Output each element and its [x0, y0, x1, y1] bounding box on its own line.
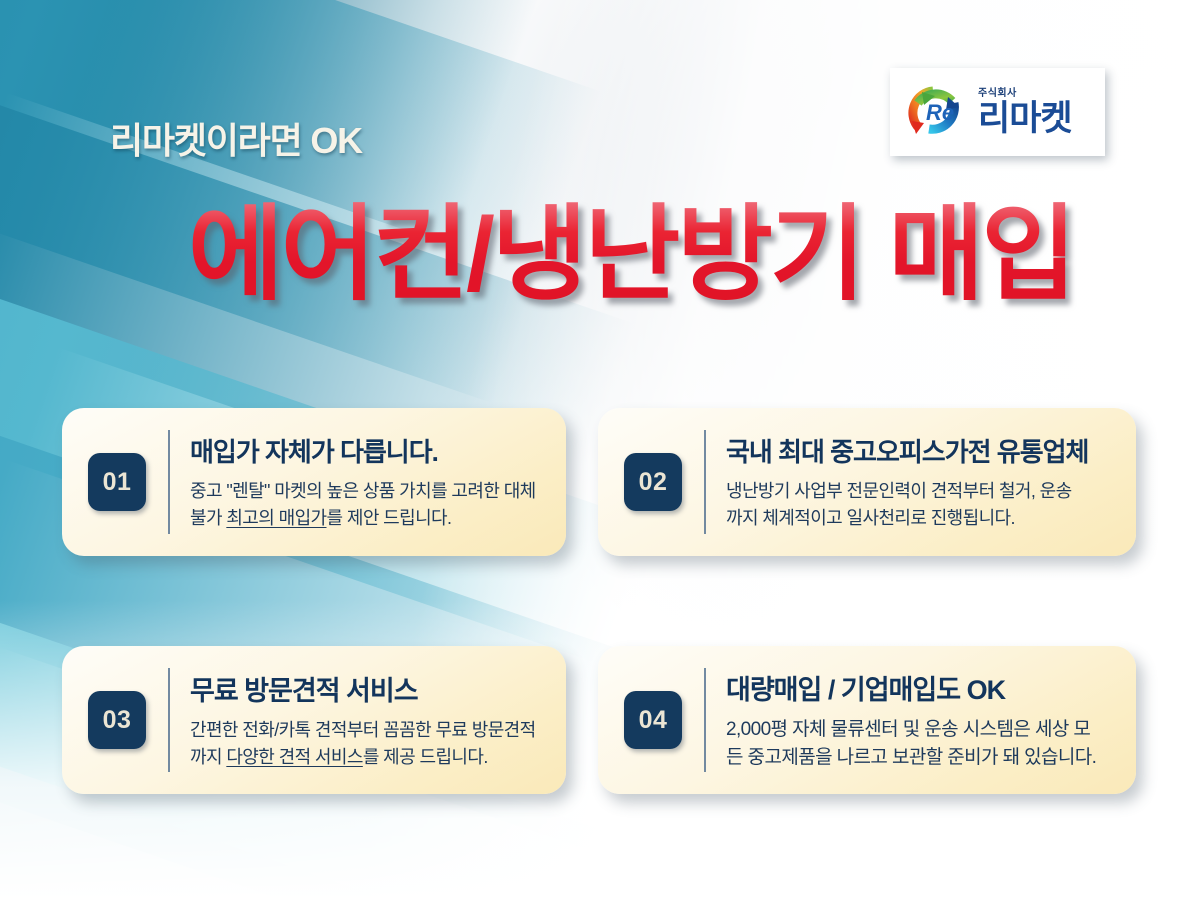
feature-desc-line2-post: 를 제공 드립니다.: [363, 747, 488, 767]
feature-desc-highlight: 다양한 견적 서비스: [226, 747, 362, 767]
feature-body: 매입가 자체가 다릅니다. 중고 "렌탈" 마켓의 높은 상품 가치를 고려한 …: [190, 432, 542, 531]
feature-description: 냉난방기 사업부 전문인력이 견적부터 철거, 운송 까지 체계적이고 일사천리…: [726, 478, 1112, 531]
feature-card-02: 02 국내 최대 중고오피스가전 유통업체 냉난방기 사업부 전문인력이 견적부…: [598, 408, 1136, 556]
feature-desc-line2-pre: 불가: [190, 508, 226, 528]
feature-desc-line2-pre: 까지 체계적이고 일사천리로 진행됩니다.: [726, 508, 1015, 528]
feature-desc-line1: 중고 "렌탈" 마켓의 높은 상품 가치를 고려한 대체: [190, 481, 536, 501]
divider: [704, 668, 706, 772]
hero-headline: 에어컨/냉난방기 매입: [188, 196, 1074, 316]
feature-title: 국내 최대 중고오피스가전 유통업체: [726, 432, 1112, 469]
feature-desc-highlight: 최고의 매입가: [226, 508, 326, 528]
feature-title: 대량매입 / 기업매입도 OK: [726, 668, 1112, 707]
svg-text:Re: Re: [926, 100, 954, 125]
feature-number-badge: 04: [624, 691, 682, 749]
feature-desc-line1: 간편한 전화/카톡 견적부터 꼼꼼한 무료 방문견적: [190, 720, 536, 740]
feature-description: 중고 "렌탈" 마켓의 높은 상품 가치를 고려한 대체 불가 최고의 매입가를…: [190, 478, 542, 531]
hero-eyebrow: 리마켓이라면 OK: [110, 112, 362, 164]
feature-desc-line1: 2,000평 자체 물류센터 및 운송 시스템은 세상 모: [726, 719, 1090, 740]
feature-card-01: 01 매입가 자체가 다릅니다. 중고 "렌탈" 마켓의 높은 상품 가치를 고…: [62, 408, 566, 556]
feature-card-03: 03 무료 방문견적 서비스 간편한 전화/카톡 견적부터 꼼꼼한 무료 방문견…: [62, 646, 566, 794]
feature-number-badge: 02: [624, 453, 682, 511]
recycle-arrows-icon: Re: [902, 81, 970, 143]
feature-number-badge: 03: [88, 691, 146, 749]
promo-banner: Re 주식회사 리마켓 리마켓이라면 OK 에어컨/냉난방기 매입 01 매입가…: [0, 0, 1180, 900]
feature-description: 2,000평 자체 물류센터 및 운송 시스템은 세상 모 든 중고제품을 나르…: [726, 716, 1112, 772]
feature-number-badge: 01: [88, 453, 146, 511]
feature-desc-line2-pre: 까지: [190, 747, 226, 767]
divider: [168, 430, 170, 534]
brand-corp-prefix: 주식회사: [978, 89, 1072, 99]
feature-title: 무료 방문견적 서비스: [190, 669, 542, 708]
feature-card-04: 04 대량매입 / 기업매입도 OK 2,000평 자체 물류센터 및 운송 시…: [598, 646, 1136, 794]
brand-logo: Re 주식회사 리마켓: [890, 68, 1105, 156]
feature-description: 간편한 전화/카톡 견적부터 꼼꼼한 무료 방문견적 까지 다양한 견적 서비스…: [190, 717, 542, 770]
brand-company-name: 리마켓: [978, 101, 1072, 136]
feature-body: 대량매입 / 기업매입도 OK 2,000평 자체 물류센터 및 운송 시스템은…: [726, 668, 1112, 772]
feature-desc-line1: 냉난방기 사업부 전문인력이 견적부터 철거, 운송: [726, 481, 1072, 501]
divider: [168, 668, 170, 772]
feature-title: 매입가 자체가 다릅니다.: [190, 432, 542, 469]
brand-logo-text: 주식회사 리마켓: [978, 89, 1072, 136]
divider: [704, 430, 706, 534]
feature-desc-line2-post: 를 제안 드립니다.: [327, 508, 452, 528]
feature-body: 국내 최대 중고오피스가전 유통업체 냉난방기 사업부 전문인력이 견적부터 철…: [726, 432, 1112, 531]
feature-desc-line2-pre: 든 중고제품을 나르고 보관할 준비가 돼 있습니다.: [726, 747, 1096, 768]
feature-body: 무료 방문견적 서비스 간편한 전화/카톡 견적부터 꼼꼼한 무료 방문견적 까…: [190, 669, 542, 770]
